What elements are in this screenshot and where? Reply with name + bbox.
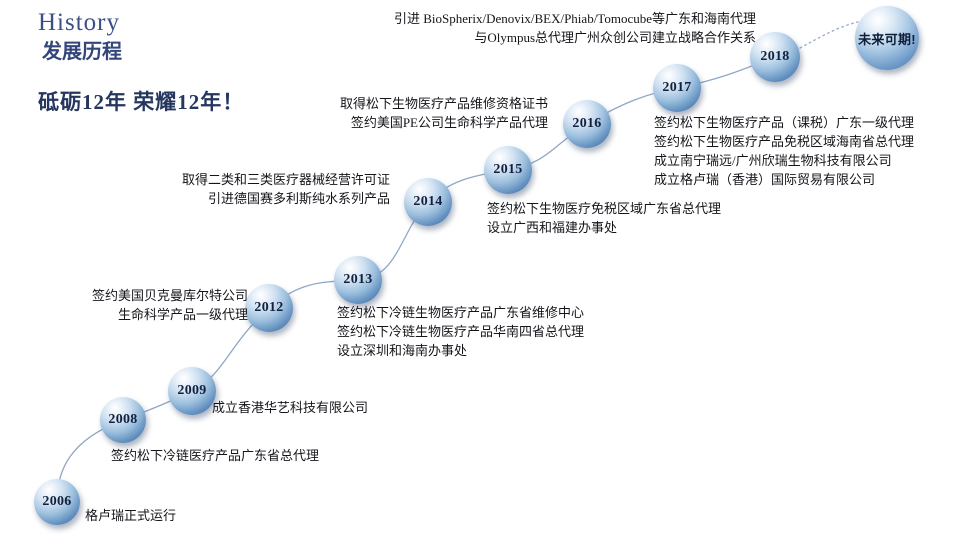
future-bubble[interactable]: 未来可期!: [855, 6, 919, 70]
year-bubble-2006[interactable]: 2006: [34, 479, 80, 525]
event-line: 签约松下生物医疗产品免税区域海南省总代理: [654, 132, 914, 151]
event-line: 取得松下生物医疗产品维修资格证书: [0, 94, 548, 113]
event-line: 签约美国PE公司生命科学产品代理: [0, 113, 548, 132]
event-text-2017: 签约松下生物医疗产品（课税）广东一级代理签约松下生物医疗产品免税区域海南省总代理…: [654, 113, 914, 189]
event-line: 签约松下冷链生物医疗产品广东省维修中心: [337, 303, 584, 322]
event-line: 成立香港华艺科技有限公司: [212, 398, 368, 417]
event-line: 取得二类和三类医疗器械经营许可证: [0, 170, 390, 189]
year-bubble-2016[interactable]: 2016: [563, 100, 611, 148]
event-text-2012: 签约美国贝克曼库尔特公司生命科学产品一级代理: [0, 286, 248, 324]
event-line: 签约松下冷链生物医疗产品华南四省总代理: [337, 322, 584, 341]
event-line: 引进 BioSpherix/Denovix/BEX/Phiab/Tomocube…: [0, 9, 756, 28]
event-line: 与Olympus总代理广州众创公司建立战略合作关系: [0, 28, 756, 47]
year-bubble-2014[interactable]: 2014: [404, 178, 452, 226]
event-text-2013: 签约松下冷链生物医疗产品广东省维修中心签约松下冷链生物医疗产品华南四省总代理设立…: [337, 303, 584, 360]
event-line: 格卢瑞正式运行: [85, 506, 176, 525]
event-text-2006: 格卢瑞正式运行: [85, 506, 176, 525]
event-text-2018: 引进 BioSpherix/Denovix/BEX/Phiab/Tomocube…: [0, 9, 756, 47]
event-line: 设立广西和福建办事处: [487, 218, 721, 237]
event-line: 引进德国赛多利斯纯水系列产品: [0, 189, 390, 208]
event-line: 生命科学产品一级代理: [0, 305, 248, 324]
event-text-2009: 成立香港华艺科技有限公司: [212, 398, 368, 417]
year-bubble-2017[interactable]: 2017: [653, 64, 701, 112]
event-line: 成立南宁瑞远/广州欣瑞生物科技有限公司: [654, 151, 914, 170]
event-line: 签约松下冷链医疗产品广东省总代理: [111, 446, 319, 465]
event-text-2014: 取得二类和三类医疗器械经营许可证引进德国赛多利斯纯水系列产品: [0, 170, 390, 208]
event-text-2008: 签约松下冷链医疗产品广东省总代理: [111, 446, 319, 465]
event-text-2016: 取得松下生物医疗产品维修资格证书签约美国PE公司生命科学产品代理: [0, 94, 548, 132]
event-line: 签约美国贝克曼库尔特公司: [0, 286, 248, 305]
year-bubble-2015[interactable]: 2015: [484, 146, 532, 194]
year-bubble-2018[interactable]: 2018: [750, 32, 800, 82]
event-text-2015: 签约松下生物医疗免税区域广东省总代理设立广西和福建办事处: [487, 199, 721, 237]
future-dotted-path: [800, 22, 858, 48]
year-bubble-2009[interactable]: 2009: [168, 367, 216, 415]
event-line: 成立格卢瑞（香港）国际贸易有限公司: [654, 170, 914, 189]
history-timeline-slide: History 发展历程 砥砺12年 荣耀12年！ 2006格卢瑞正式运行200…: [0, 0, 960, 540]
event-line: 设立深圳和海南办事处: [337, 341, 584, 360]
event-line: 签约松下生物医疗免税区域广东省总代理: [487, 199, 721, 218]
year-bubble-2012[interactable]: 2012: [245, 284, 293, 332]
year-bubble-2008[interactable]: 2008: [100, 397, 146, 443]
event-line: 签约松下生物医疗产品（课税）广东一级代理: [654, 113, 914, 132]
year-bubble-2013[interactable]: 2013: [334, 256, 382, 304]
